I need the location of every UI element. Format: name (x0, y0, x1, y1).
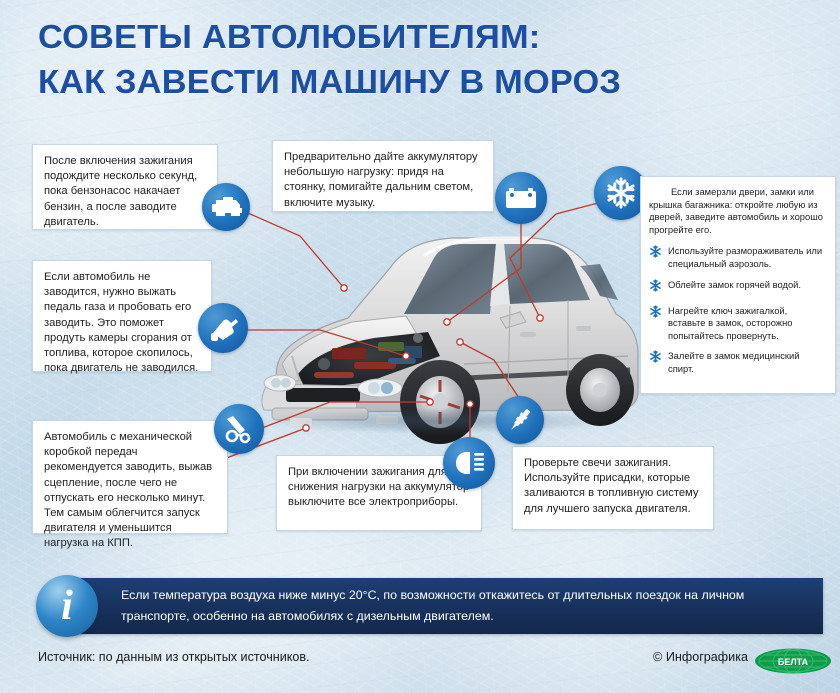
battery-glyph (504, 185, 538, 211)
tip-card-battery-preload: Предварительно дайте аккумулятору неболь… (272, 140, 494, 212)
header: СОВЕТЫ АВТОЛЮБИТЕЛЯМ: КАК ЗАВЕСТИ МАШИНУ… (0, 0, 840, 122)
footer-source: Источник: по данным из открытых источник… (38, 650, 310, 664)
headlight-icon (443, 437, 495, 489)
car-shadow (256, 408, 618, 434)
car-illustration (228, 196, 648, 466)
frozen-locks-intro: Если замерзли двери, замки или крышка ба… (649, 186, 826, 236)
list-item: Залейте в замок медицинский спирт. (649, 350, 826, 375)
tip-card-gas-pedal: Если автомобиль не заводится, нужно выжа… (32, 260, 212, 372)
bullet-text: Залейте в замок медицинский спирт. (668, 350, 826, 375)
tip-text: Предварительно дайте аккумулятору неболь… (284, 150, 482, 211)
tip-text: Автомобиль с механической коробкой перед… (44, 430, 216, 552)
belta-logo-text: БЕЛТА (778, 657, 809, 667)
tip-text: Если автомобиль не заводится, нужно выжа… (44, 270, 200, 376)
tip-card-ignition-fuelpump: После включения зажигания подождите неск… (32, 144, 218, 230)
snowflake-bullet-icon (649, 350, 664, 368)
tip-text: Проверьте свечи зажигания. Используйте п… (524, 456, 702, 517)
bullet-text: Облейте замок горячей водой. (668, 279, 801, 292)
gearbox-glyph (223, 414, 255, 444)
spark-plug-icon (496, 396, 544, 444)
snowflake-bullet-icon (649, 245, 664, 263)
note-bar: Если температура воздуха ниже минус 20°C… (75, 578, 823, 634)
battery-icon (495, 172, 547, 224)
spark-plug-glyph (505, 405, 535, 435)
note-text: Если температура воздуха ниже минус 20°C… (121, 588, 744, 623)
list-item: Нагрейте ключ зажигалкой, вставьте в зам… (649, 305, 826, 343)
gearbox-icon (214, 404, 264, 454)
tip-card-spark-plugs: Проверьте свечи зажигания. Используйте п… (512, 446, 714, 530)
snowflake-bullet-icon (649, 279, 664, 297)
tip-text: После включения зажигания подождите неск… (44, 154, 206, 230)
snowflake-bullet-icon (649, 305, 664, 323)
bullet-text: Нагрейте ключ зажигалкой, вставьте в зам… (668, 305, 826, 343)
list-item: Используйте размораживатель или специаль… (649, 245, 826, 270)
tip-card-manual-gearbox: Автомобиль с механической коробкой перед… (32, 420, 228, 534)
fuel-nozzle-glyph (207, 312, 239, 344)
snowflake-glyph (604, 176, 638, 210)
footer-credit: © Инфографика (653, 650, 748, 664)
info-icon: i (36, 575, 98, 637)
fuel-nozzle-icon (198, 303, 248, 353)
bullet-text: Используйте размораживатель или специаль… (668, 245, 826, 270)
frozen-locks-panel: Если замерзли двери, замки или крышка ба… (640, 176, 836, 394)
tip-text: При включении зажигания для снижения наг… (288, 465, 470, 511)
list-item: Облейте замок горячей водой. (649, 279, 826, 297)
infographic-poster: СОВЕТЫ АВТОЛЮБИТЕЛЯМ: КАК ЗАВЕСТИ МАШИНУ… (0, 0, 840, 693)
headlight-glyph (452, 450, 486, 476)
engine-icon (202, 183, 250, 231)
belta-logo: БЕЛТА (754, 648, 832, 674)
page-title-line-2: КАК ЗАВЕСТИ МАШИНУ В МОРОЗ (38, 63, 621, 101)
page-title-line-1: СОВЕТЫ АВТОЛЮБИТЕЛЯМ: (38, 18, 540, 56)
engine-glyph (210, 194, 242, 220)
